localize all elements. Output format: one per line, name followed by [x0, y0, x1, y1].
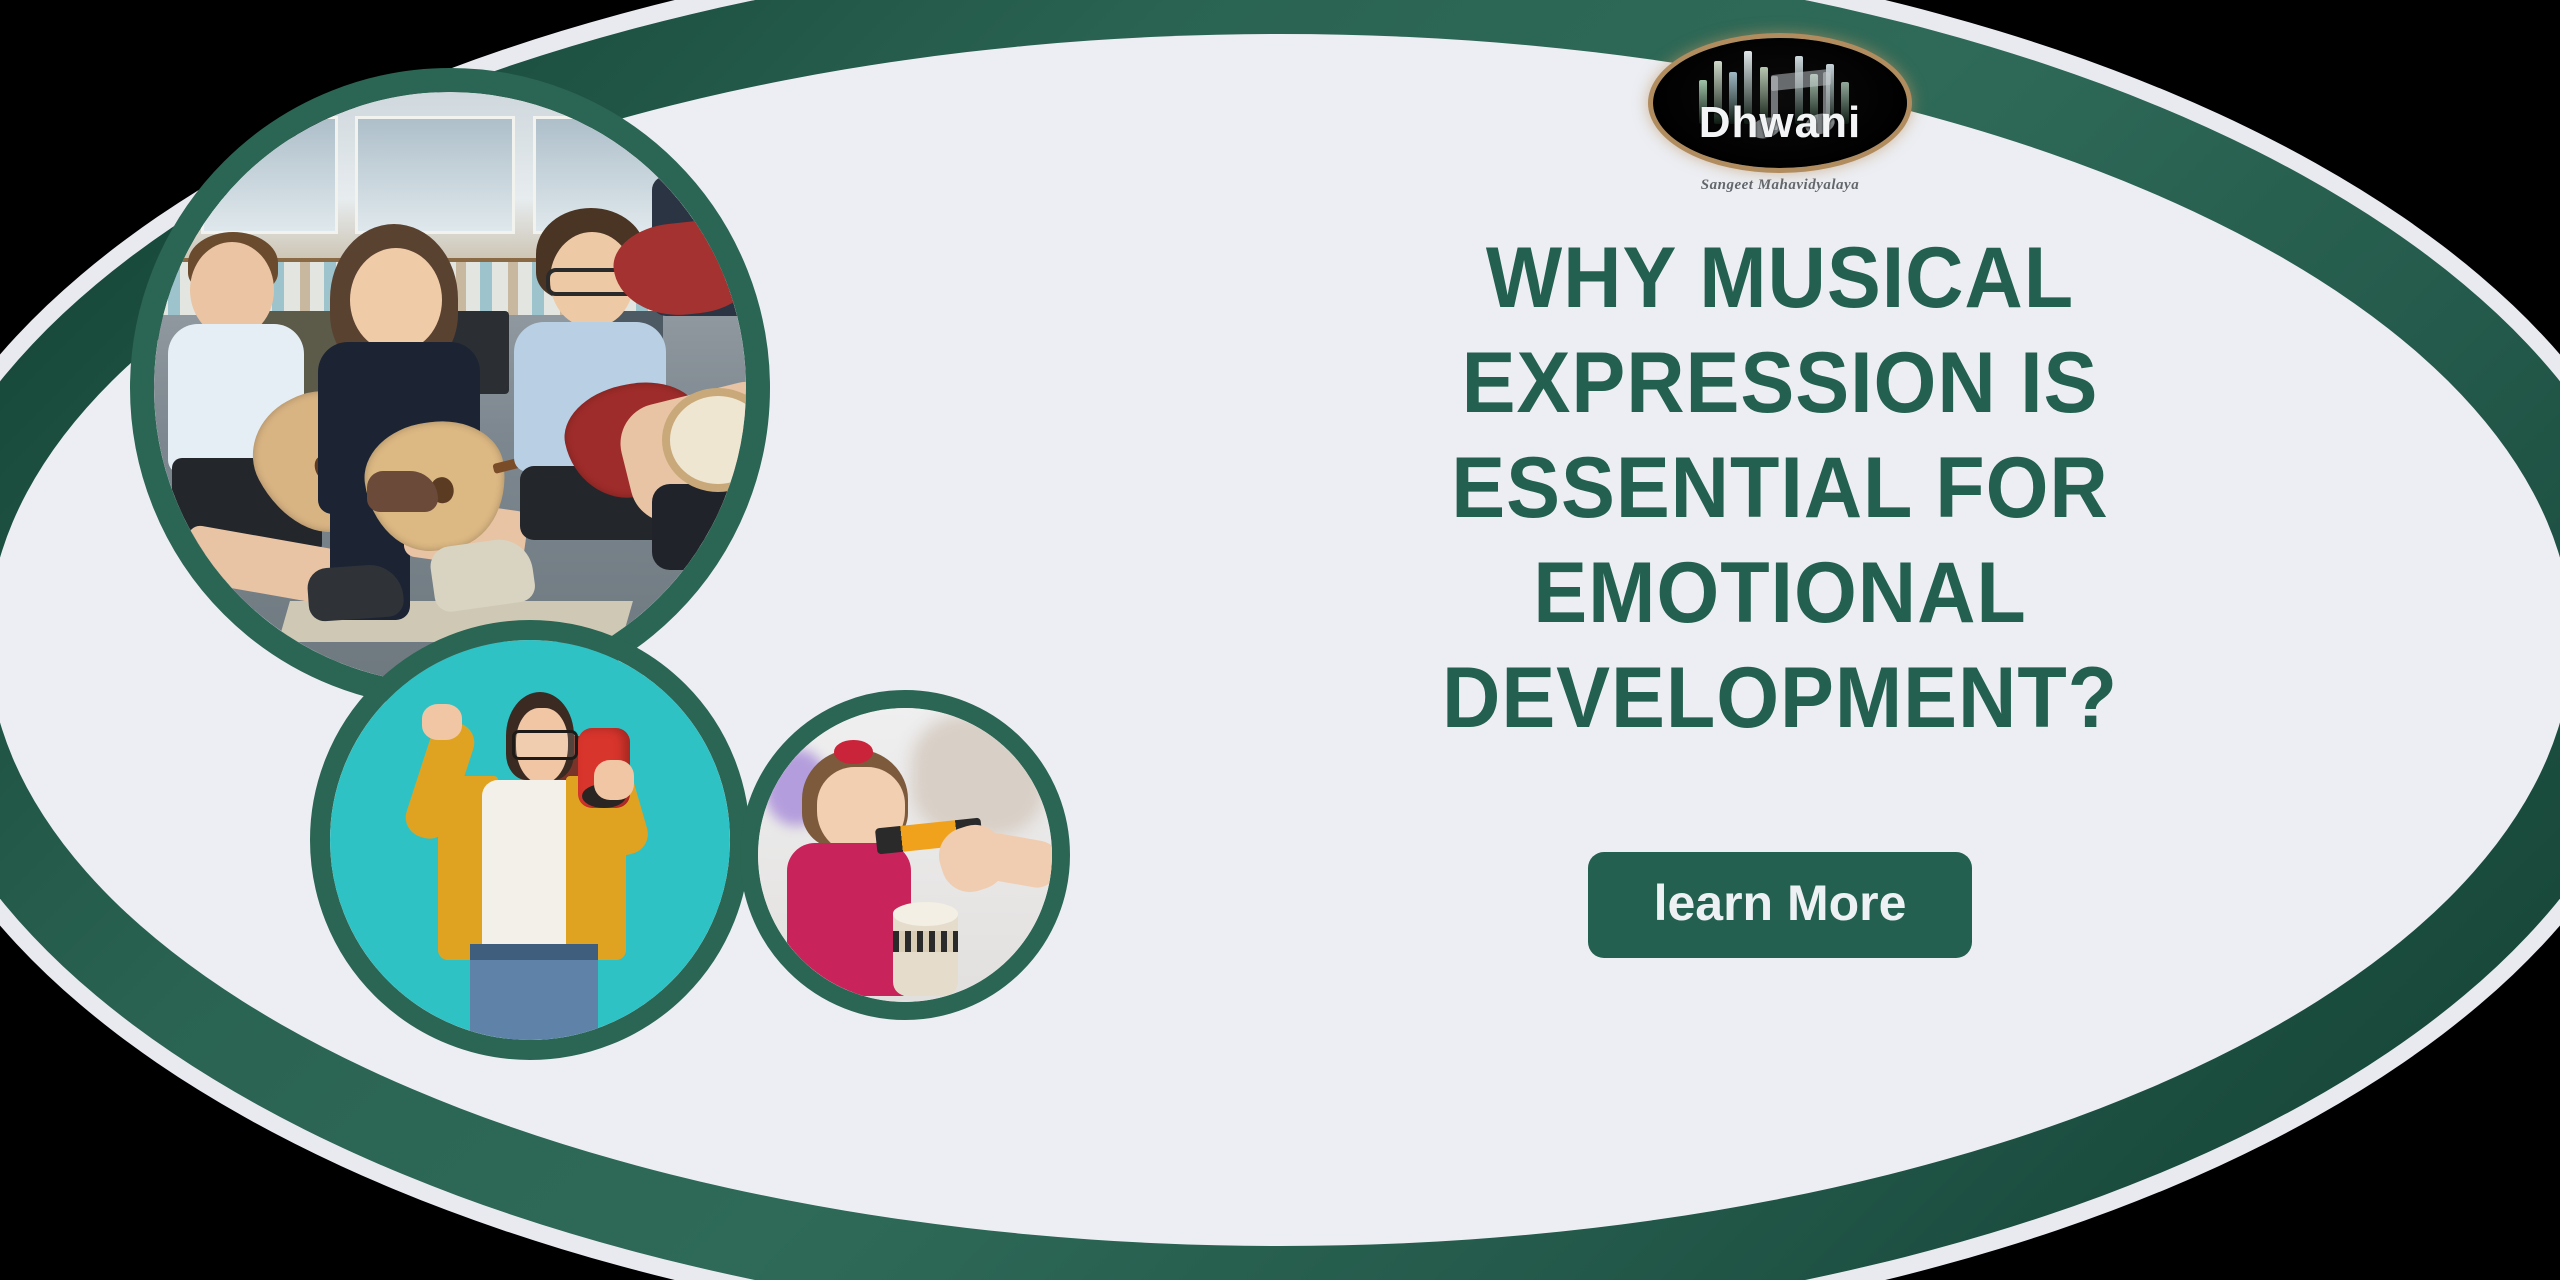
promo-banner: Dhwani Sangeet Mahavidyalaya WHY MUSICAL…	[0, 0, 2560, 1280]
logo-oval-icon: Dhwani	[1653, 38, 1907, 168]
headline-line-5: DEVELOPMENT?	[1225, 646, 2334, 751]
window-pane	[201, 116, 337, 234]
shorts	[652, 484, 746, 570]
shoe-sole	[428, 535, 537, 613]
drum-head	[893, 902, 958, 926]
woman-scene	[330, 640, 730, 1040]
content-column: Dhwani Sangeet Mahavidyalaya WHY MUSICAL…	[1150, 20, 2410, 1200]
eyeglasses	[512, 730, 578, 760]
brand-logo[interactable]: Dhwani Sangeet Mahavidyalaya	[1645, 28, 1915, 188]
hair-clip	[834, 740, 872, 764]
learn-more-button[interactable]: learn More	[1588, 852, 1973, 958]
headline-line-2: EXPRESSION IS	[1225, 331, 2334, 436]
toddler-scene	[758, 708, 1052, 1002]
headline-line-1: WHY MUSICAL	[1225, 226, 2334, 331]
hand	[594, 760, 634, 800]
collage-image-children-playing-ukuleles-classroom	[130, 68, 770, 708]
photo-woman-speaker	[330, 640, 730, 1040]
logo-tagline: Sangeet Mahavidyalaya	[1645, 177, 1915, 194]
photo-toddler-harmonica	[758, 708, 1052, 1002]
shoe	[306, 562, 404, 622]
photo-classroom	[154, 92, 746, 684]
drum-pattern	[893, 931, 958, 952]
note-beam	[1771, 69, 1831, 91]
head	[350, 248, 442, 352]
image-collage	[130, 50, 1050, 1170]
fist	[422, 704, 462, 740]
page-title: WHY MUSICAL EXPRESSION IS ESSENTIAL FOR …	[1225, 226, 2334, 751]
headline-line-3: ESSENTIAL FOR	[1225, 436, 2334, 541]
classroom-scene	[154, 92, 746, 684]
shoe	[367, 471, 438, 512]
window-pane	[355, 116, 515, 234]
logo-wordmark: Dhwani	[1653, 98, 1907, 148]
collage-image-woman-with-red-speaker	[310, 620, 750, 1060]
collage-image-toddler-playing-harmonica	[740, 690, 1070, 1020]
waistband	[470, 944, 598, 960]
headline-line-4: EMOTIONAL	[1225, 541, 2334, 646]
